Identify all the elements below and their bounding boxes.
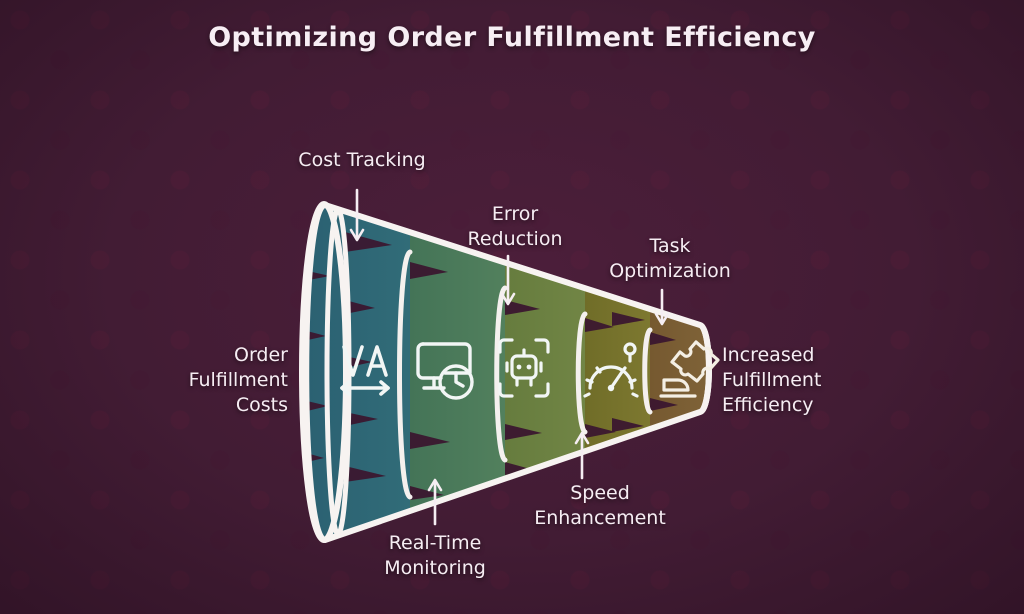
funnel-output-label: Increased Fulfillment Efficiency — [722, 343, 922, 418]
diagram-canvas: Optimizing Order Fulfillment Efficiency — [0, 0, 1024, 614]
callout-label-cost-tracking: Cost Tracking — [272, 148, 452, 173]
callout-label-error-reduction: Error Reduction — [440, 202, 590, 252]
funnel-input-label: Order Fulfillment Costs — [170, 343, 288, 418]
callout-label-task-optimization: Task Optimization — [580, 234, 760, 284]
callout-label-speed-enhancement: Speed Enhancement — [500, 481, 700, 531]
callout-label-real-time-monitoring: Real-Time Monitoring — [360, 531, 510, 581]
